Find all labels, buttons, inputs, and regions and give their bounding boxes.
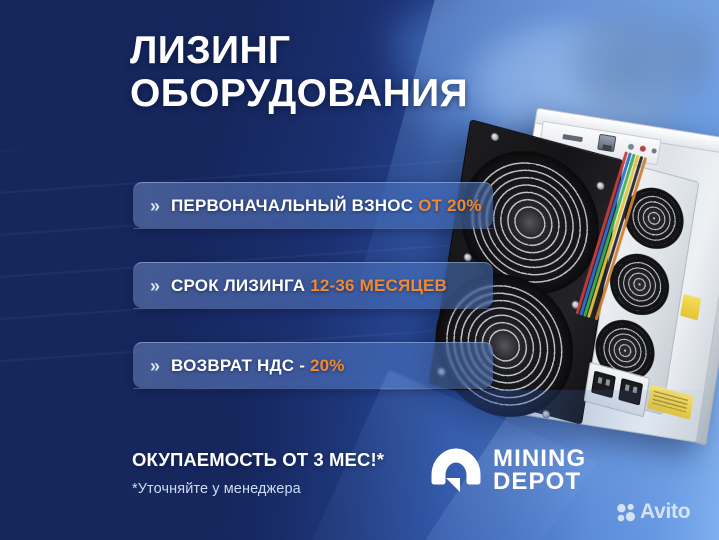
feature-label-text: ВОЗВРАТ НДС - bbox=[171, 356, 305, 375]
feature-item-lease-term[interactable]: » СРОК ЛИЗИНГА 12-36 МЕСЯЦЕВ bbox=[133, 262, 493, 308]
disclaimer-note: *Уточняйте у менеджера bbox=[132, 481, 301, 497]
brand-line-2: DEPOT bbox=[493, 470, 586, 493]
avito-dots-icon bbox=[617, 503, 636, 522]
feature-label: СРОК ЛИЗИНГА 12-36 МЕСЯЦЕВ bbox=[171, 276, 447, 296]
brand-wordmark: MINING DEPOT bbox=[493, 447, 586, 494]
miner-ethernet-port bbox=[597, 134, 616, 152]
arch-chevron-icon bbox=[430, 446, 482, 494]
avito-watermark: Avito bbox=[617, 500, 690, 524]
brand-line-1: MINING bbox=[493, 447, 586, 470]
feature-accent-value: 20% bbox=[310, 356, 345, 375]
feature-accent-value: 12-36 МЕСЯЦЕВ bbox=[310, 276, 447, 295]
leasing-promo-banner: ЛИЗИНГ ОБОРУДОВАНИЯ » ПЕРВОНАЧАЛЬНЫЙ ВЗН… bbox=[0, 0, 719, 540]
feature-list: » ПЕРВОНАЧАЛЬНЫЙ ВЗНОС ОТ 20% » СРОК ЛИЗ… bbox=[133, 182, 493, 422]
feature-label: ВОЗВРАТ НДС - 20% bbox=[171, 356, 345, 376]
chevron-right-icon: » bbox=[150, 197, 160, 215]
miner-warning-sticker bbox=[680, 294, 701, 320]
miner-screw bbox=[596, 181, 605, 191]
miner-screw bbox=[490, 132, 499, 142]
chevron-right-icon: » bbox=[150, 277, 160, 295]
headline-line-1: ЛИЗИНГ bbox=[130, 29, 291, 72]
chevron-right-icon: » bbox=[150, 357, 160, 375]
headline-line-2: ОБОРУДОВАНИЯ bbox=[130, 73, 590, 116]
payback-headline: ОКУПАЕМОСТЬ ОТ 3 МЕС!* bbox=[132, 449, 384, 471]
feature-label-text: ПЕРВОНАЧАЛЬНЫЙ ВЗНОС bbox=[171, 196, 413, 215]
feature-label: ПЕРВОНАЧАЛЬНЫЙ ВЗНОС ОТ 20% bbox=[171, 196, 482, 216]
feature-label-text: СРОК ЛИЗИНГА bbox=[171, 276, 305, 295]
brand-logo[interactable]: MINING DEPOT bbox=[430, 446, 586, 494]
feature-item-vat-refund[interactable]: » ВОЗВРАТ НДС - 20% bbox=[133, 342, 493, 388]
avito-wordmark: Avito bbox=[640, 500, 690, 524]
feature-item-down-payment[interactable]: » ПЕРВОНАЧАЛЬНЫЙ ВЗНОС ОТ 20% bbox=[133, 182, 493, 228]
page-title: ЛИЗИНГ ОБОРУДОВАНИЯ bbox=[130, 30, 590, 115]
feature-accent-value: ОТ 20% bbox=[418, 196, 482, 215]
